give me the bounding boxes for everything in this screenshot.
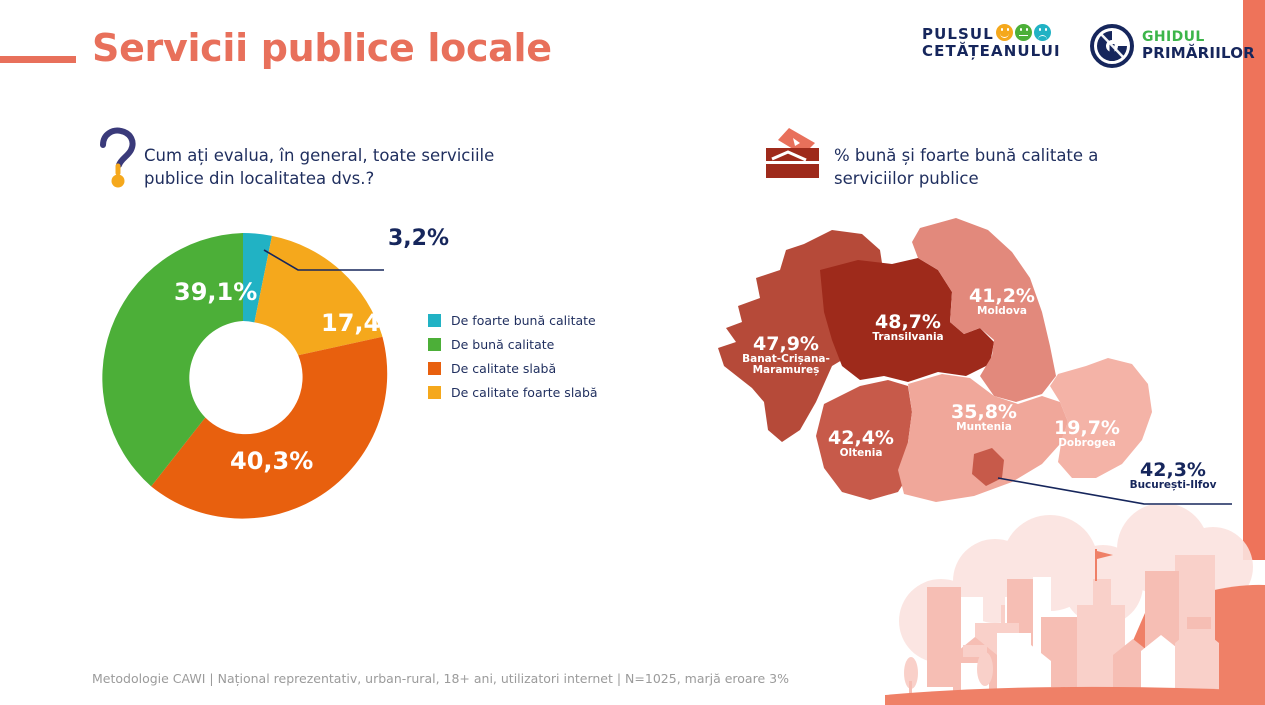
ballot-box-icon [762, 126, 824, 184]
legend-label-slaba: De calitate slabă [451, 361, 556, 376]
legend-item-foarte-slaba[interactable]: De calitate foarte slabă [428, 385, 598, 400]
donut-chart: 39,1% 40,3% 17,4% 3,2% [98, 232, 398, 524]
infographic-slide: Servicii publice locale PULSUL CETĂȚEANU… [0, 0, 1265, 705]
logo-pulsul-line2: CETĂȚEANULUI [922, 43, 1052, 60]
legend-item-buna[interactable]: De bună calitate [428, 337, 598, 352]
logo-ghidul-primariilor: GHIDUL PRIMĂRIILOR [1090, 24, 1230, 70]
legend-swatch-foarte-slaba [428, 386, 441, 399]
logo-ghidul-text: GHIDUL PRIMĂRIILOR [1142, 29, 1255, 61]
donut-label-buna: 39,1% [174, 278, 257, 306]
question-text: Cum ați evalua, în general, toate servic… [144, 144, 514, 190]
donut-segment-foarte-slaba [254, 236, 382, 355]
right-edge-stripe [1243, 0, 1265, 560]
neutral-face-icon [1015, 24, 1032, 41]
ghidul-primariilor-mark-icon [1090, 24, 1134, 68]
legend-swatch-buna [428, 338, 441, 351]
legend-item-foarte-buna[interactable]: De foarte bună calitate [428, 313, 598, 328]
sad-face-icon [1034, 24, 1051, 41]
legend-swatch-slaba [428, 362, 441, 375]
logo-ghidul-line1: GHIDUL [1142, 29, 1255, 45]
map-label-banat: 47,9% Banat-Crișana- Maramureș [726, 334, 846, 376]
happy-face-icon [996, 24, 1013, 41]
legend-swatch-foarte-buna [428, 314, 441, 327]
map-label-muntenia: 35,8% Muntenia [924, 402, 1044, 433]
map-label-oltenia: 42,4% Oltenia [806, 428, 916, 459]
question-section-header: Cum ați evalua, în general, toate servic… [96, 126, 516, 193]
question-mark-icon [96, 126, 142, 188]
map-section-text: % bună și foarte bună calitate a servici… [834, 144, 1174, 190]
donut-label-slaba: 40,3% [230, 447, 313, 475]
donut-legend: De foarte bună calitate De bună calitate… [428, 313, 598, 409]
legend-label-foarte-slaba: De calitate foarte slabă [451, 385, 598, 400]
legend-label-foarte-buna: De foarte bună calitate [451, 313, 596, 328]
footer-methodology: Metodologie CAWI | Național reprezentati… [92, 671, 789, 686]
legend-item-slaba[interactable]: De calitate slabă [428, 361, 598, 376]
legend-label-buna: De bună calitate [451, 337, 554, 352]
donut-chart-svg [98, 232, 398, 524]
map-label-dobrogea: 19,7% Dobrogea [1032, 418, 1142, 449]
donut-label-foarte-buna: 3,2% [388, 226, 449, 251]
title-underline-rule [0, 56, 76, 63]
logo-ghidul-line2: PRIMĂRIILOR [1142, 45, 1255, 61]
page-title: Servicii publice locale [92, 26, 552, 70]
map-label-moldova: 41,2% Moldova [942, 286, 1062, 317]
donut-label-foarte-slaba: 17,4% [321, 309, 404, 337]
logo-pulsul-cetateanului: PULSUL CETĂȚEANULUI [922, 26, 1052, 68]
map-label-bucuresti-ilfov: 42,3% București-Ilfov [1108, 460, 1238, 491]
smiley-faces-group [996, 24, 1051, 41]
cityscape-illustration [845, 505, 1265, 705]
map-section-header: % bună și foarte bună calitate a servici… [762, 126, 1182, 189]
romania-choropleth-map: 47,9% Banat-Crișana- Maramureș 48,7% Tra… [712, 216, 1232, 516]
